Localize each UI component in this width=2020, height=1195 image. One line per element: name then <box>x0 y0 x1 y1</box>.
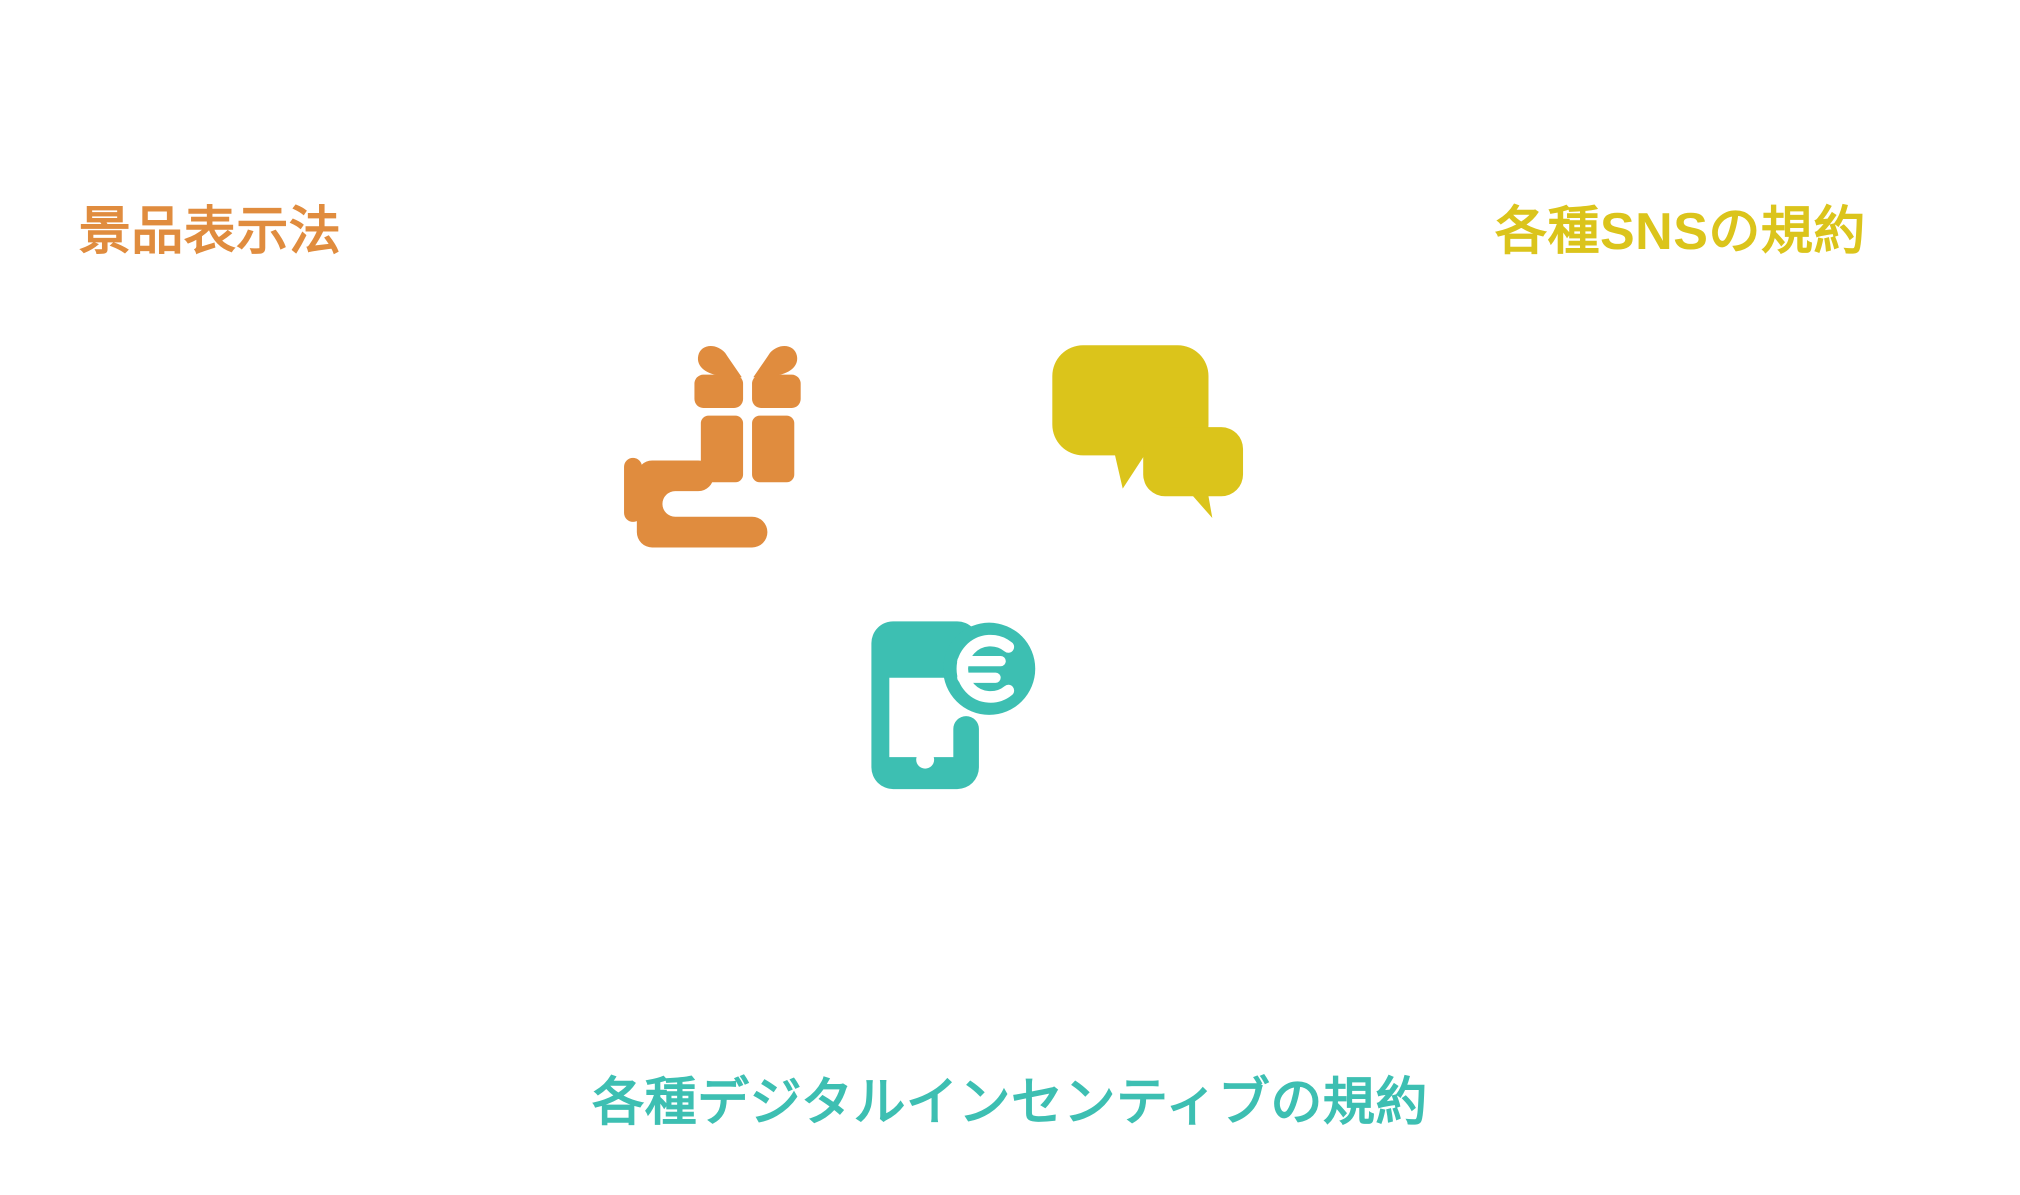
segment-label-digital-incentive: 各種デジタルインセンティブの規約 <box>0 1075 2020 1132</box>
pie-slice-sns[interactable] <box>943 433 999 466</box>
speech-bubbles-icon <box>1052 345 1243 518</box>
gift-hand-icon <box>624 346 801 548</box>
ring-segment-group <box>522 212 1371 955</box>
donut-diagram <box>0 0 2020 1195</box>
segment-label-keihin: 景品表示法 <box>30 204 390 261</box>
smartphone-euro-icon <box>871 621 1035 789</box>
center-pie-chart <box>885 431 999 531</box>
pie-slice-keihin[interactable] <box>885 431 942 463</box>
segment-label-sns: 各種SNSの規約 <box>1495 204 1855 261</box>
diagram-canvas: 景品表示法 各種SNSの規約 各種デジタルインセンティブの規約 <box>0 0 2020 1195</box>
